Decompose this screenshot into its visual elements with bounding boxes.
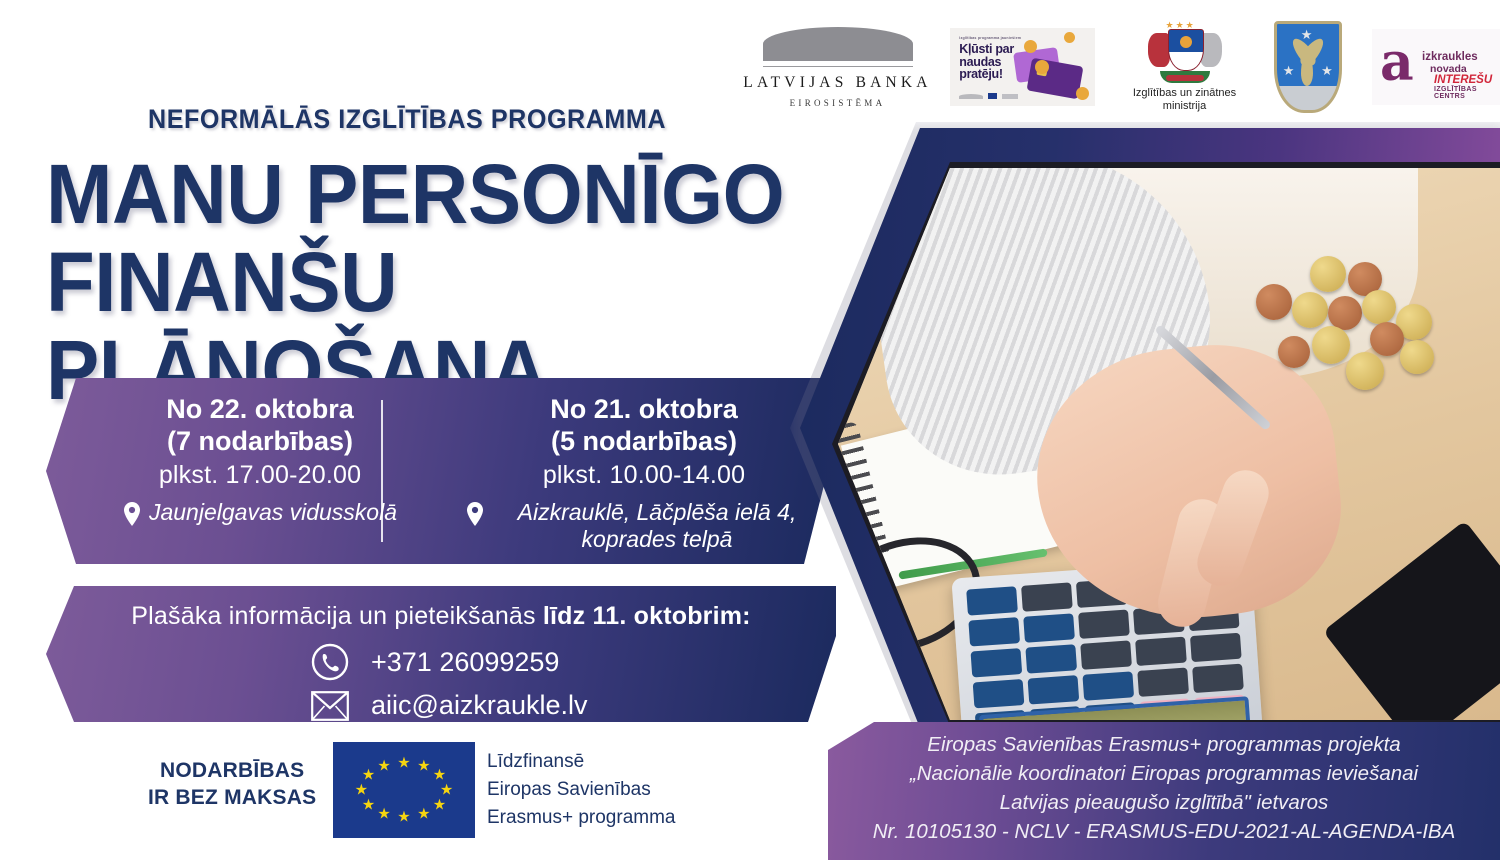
contact-email-text: aiic@aizkraukle.lv [371, 690, 587, 721]
leaf-icon [1301, 54, 1313, 86]
star-icon: ★ [1321, 64, 1333, 77]
lion-icon [1148, 33, 1170, 67]
map-pin-icon [123, 502, 141, 526]
free-note-line-1: NODARBĪBAS [148, 757, 316, 784]
partner-mark-icon [1002, 94, 1018, 99]
schedule-date: No 21. oktobra [452, 393, 836, 425]
schedule-date: No 22. oktobra [68, 393, 452, 425]
ministry-name: Izglītības un zinātnes ministrija [1133, 87, 1236, 113]
project-info-line-4: Nr. 10105130 - NCLV - ERASMUS-EDU-2021-A… [873, 817, 1456, 846]
contact-banner: Plašāka informācija un pieteikšanās līdz… [46, 586, 836, 722]
schedule-divider [381, 400, 383, 542]
logo-money-literacy-banner: Izglītības programma jauniešiem Kļūsti p… [950, 28, 1095, 106]
aiic-line-3: INTEREŠU [1434, 74, 1492, 86]
contact-deadline: līdz 11. oktobrim: [543, 602, 751, 630]
eu-flag-icon: ★ ★ ★ ★ ★ ★ ★ ★ ★ ★ ★ ★ [333, 742, 475, 838]
project-info-line-2: „Nacionālie koordinatori Eiropas program… [873, 759, 1456, 788]
money-banner-title-l3: pratēju! [959, 67, 1002, 81]
schedule-location-text: Aizkrauklē, Lāčplēša ielā 4, koprades te… [492, 499, 822, 553]
contact-email-row[interactable]: aiic@aizkraukle.lv [311, 690, 587, 721]
eu-text-line-2: Eiropas Savienības [487, 776, 675, 804]
ministry-name-l2: ministrija [1163, 100, 1206, 112]
free-of-charge-note: NODARBĪBAS IR BEZ MAKSAS [148, 757, 316, 811]
sun-icon [1180, 36, 1192, 48]
project-info-text: Eiropas Savienības Erasmus+ programmas p… [847, 730, 1482, 852]
money-banner: Izglītības programma jauniešiem Kļūsti p… [950, 28, 1095, 106]
map-pin-icon [466, 502, 484, 526]
schedule-location: Aizkrauklē, Lāčplēša ielā 4, koprades te… [452, 499, 836, 553]
schedule-time: plkst. 17.00-20.00 [68, 461, 452, 490]
schedule-column-jaunjelgava: No 22. oktobra (7 nodarbības) plkst. 17.… [46, 378, 452, 564]
aiic-line-1: izkraukles [1422, 51, 1478, 63]
ribbon-icon [1166, 75, 1204, 81]
aiic-line-4: IZGLĪTĪBAS CENTRS [1434, 86, 1500, 100]
latvijas-banka-name: LATVIJAS BANKA [743, 74, 931, 92]
contact-phone-row[interactable]: +371 26099259 [311, 643, 559, 681]
logo-aiic: a izkraukles novada INTEREŠU IZGLĪTĪBAS … [1372, 29, 1500, 105]
hero-photo [838, 168, 1500, 720]
contact-phone-text: +371 26099259 [371, 647, 559, 678]
schedule-banner: No 22. oktobra (7 nodarbības) plkst. 17.… [46, 378, 836, 564]
eu-text-line-1: Līdzfinansē [487, 748, 675, 776]
schedule-location: Jaunjelgavas vidusskolā [68, 499, 452, 526]
page-title-line-1: MANU PERSONĪGO [46, 150, 797, 238]
eu-flag-icon [988, 93, 997, 99]
project-info-banner: Eiropas Savienības Erasmus+ programmas p… [828, 722, 1500, 860]
aiic-logo-icon: a izkraukles novada INTEREŠU IZGLĪTĪBAS … [1372, 29, 1500, 105]
free-note-line-2: IR BEZ MAKSAS [148, 784, 316, 811]
schedule-time: plkst. 10.00-14.00 [452, 461, 836, 490]
schedule-columns: No 22. oktobra (7 nodarbības) plkst. 17.… [46, 378, 836, 564]
schedule-location-text: Jaunjelgavas vidusskolā [149, 499, 397, 526]
logo-latvijas-banka: LATVIJAS BANKA EIROSISTĒMA [755, 27, 920, 108]
star-icon: ★ [1283, 64, 1295, 77]
schedule-sessions: (7 nodarbības) [68, 425, 452, 457]
contact-heading: Plašāka informācija un pieteikšanās līdz… [46, 602, 836, 631]
poster-canvas: LATVIJAS BANKA EIROSISTĒMA Izglītības pr… [0, 0, 1500, 860]
coins-pile [1250, 248, 1470, 398]
envelope-icon [311, 691, 349, 721]
coin-icon [1076, 87, 1089, 100]
schedule-column-aizkraukle: No 21. oktobra (5 nodarbības) plkst. 10.… [452, 378, 836, 564]
money-banner-footer-logos [959, 93, 1018, 99]
latvijas-banka-subtitle: EIROSISTĒMA [790, 98, 886, 108]
contact-heading-normal: Plašāka informācija un pieteikšanās [131, 602, 543, 630]
project-info-line-3: Latvijas pieaugušo izglītībā" ietvaros [873, 788, 1456, 817]
page-title: MANU PERSONĪGO FINANŠU PLĀNOŠANA [46, 150, 797, 414]
logo-municipality: ★ ★ ★ [1274, 21, 1342, 113]
program-eyebrow: NEFORMĀLĀS IZGLĪTĪBAS PROGRAMMA [148, 104, 666, 135]
project-info-line-1: Eiropas Savienības Erasmus+ programmas p… [873, 730, 1456, 759]
ministry-name-l1: Izglītības un zinātnes [1133, 87, 1236, 99]
phone-icon [311, 643, 349, 681]
dome-arc-icon [959, 94, 983, 99]
partner-logo-strip: LATVIJAS BANKA EIROSISTĒMA Izglītības pr… [755, 8, 1500, 126]
aizkraukle-shield-icon: ★ ★ ★ [1274, 21, 1342, 113]
coin-icon [1064, 32, 1075, 43]
shield-icon [1168, 29, 1204, 71]
aiic-monogram: a [1380, 37, 1414, 89]
schedule-sessions: (5 nodarbības) [452, 425, 836, 457]
logo-ministry: ★★★ Izglītības un zinātnes ministrija [1126, 21, 1244, 113]
star-icon: ★ [1301, 28, 1313, 41]
money-banner-title: Kļūsti par naudas pratēju! [959, 43, 1014, 81]
eu-funding-text: Līdzfinansē Eiropas Savienības Erasmus+ … [487, 748, 675, 832]
latvian-coat-of-arms-icon: ★★★ [1146, 21, 1224, 83]
logo-divider-rule [763, 66, 913, 67]
eu-text-line-3: Erasmus+ programma [487, 804, 675, 832]
dome-arc-icon [763, 27, 913, 61]
money-banner-eyebrow: Izglītības programma jauniešiem [959, 36, 1021, 40]
